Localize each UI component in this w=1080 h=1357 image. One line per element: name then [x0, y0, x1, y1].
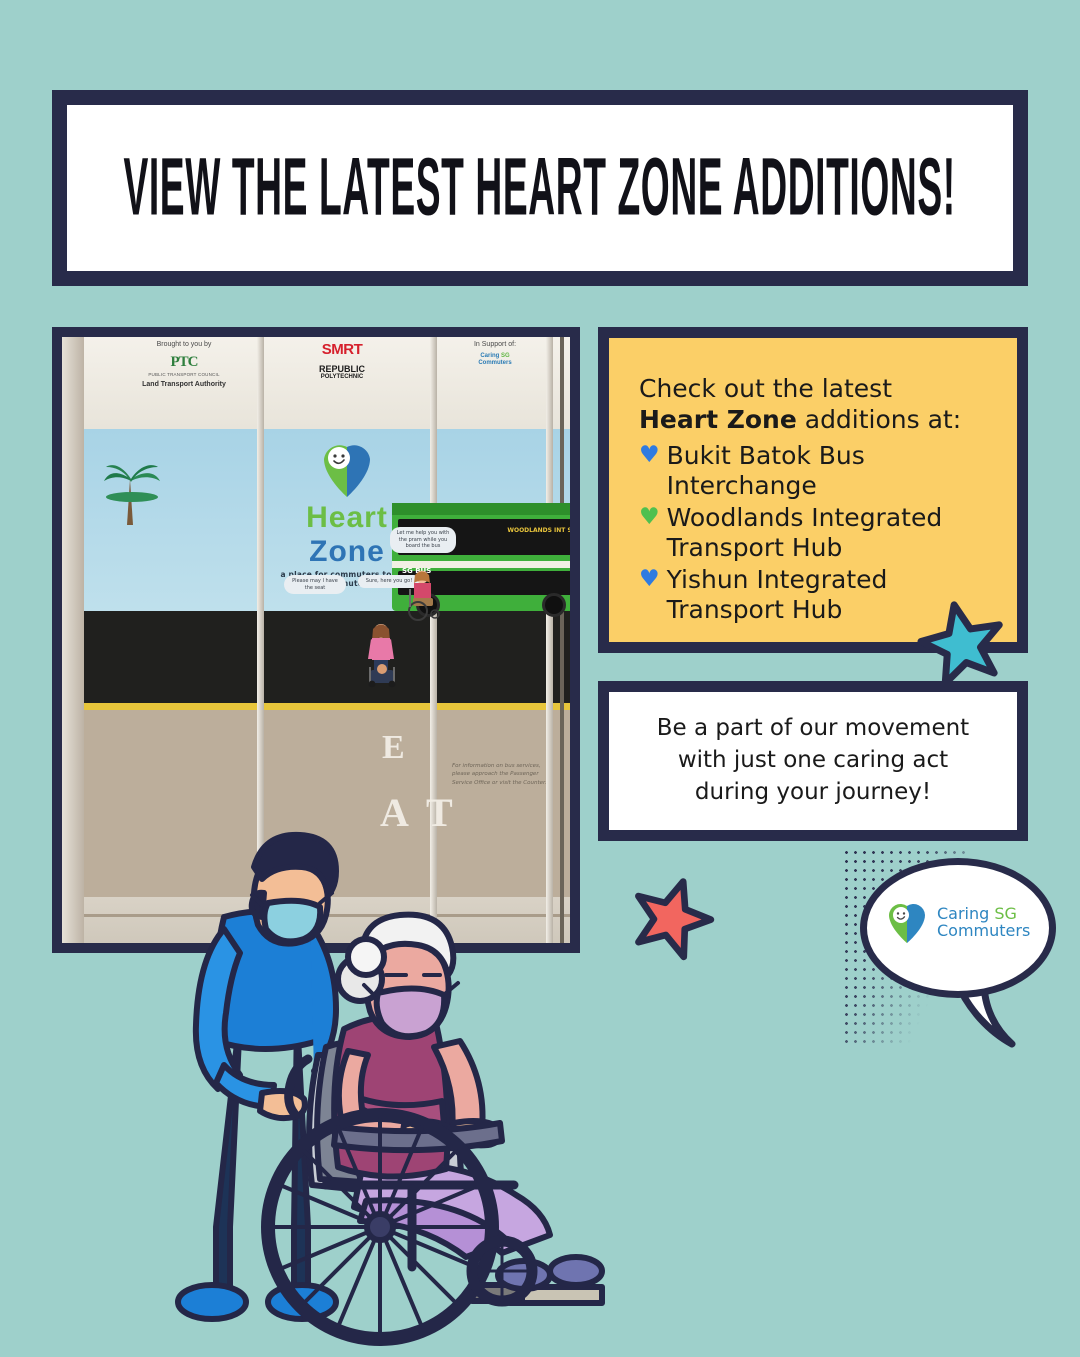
- brought-by-label: Brought to you by: [120, 341, 248, 350]
- mural-logo-line2: Commuters: [478, 360, 511, 366]
- partner-column-support: In Support of: Caring SG Commuters: [440, 341, 550, 367]
- additions-lead-text: Check out the latest Heart Zone addition…: [639, 374, 993, 435]
- mural-wheelchair-user: [404, 569, 442, 621]
- movement-line2: with just one caring act: [678, 747, 948, 773]
- list-item: ♥ Bukit Batok Bus Interchange: [639, 441, 993, 501]
- republic-polytechnic-line2: POLYTECHNIC: [267, 374, 417, 382]
- title-banner: VIEW THE LATEST HEART ZONE ADDITIONS!: [52, 90, 1028, 286]
- heart-zone-location-list: ♥ Bukit Batok Bus Interchange ♥ Woodland…: [639, 441, 993, 625]
- heart-pin-icon: [316, 437, 378, 499]
- bus-roof: [392, 503, 570, 515]
- mural-word-heart: Heart: [306, 501, 388, 534]
- mural-woman-with-stroller: [360, 622, 404, 688]
- caring-sg-commuters-logo: Caring SG Commuters: [842, 848, 1062, 1053]
- blue-heart-icon: ♥: [639, 565, 660, 594]
- republic-polytechnic-line1: REPUBLIC: [267, 365, 417, 374]
- heart-zone-additions-inner: Check out the latest Heart Zone addition…: [609, 338, 1017, 642]
- green-heart-icon: ♥: [639, 503, 660, 532]
- movement-callout-text: Be a part of our movement with just one …: [657, 713, 969, 808]
- star-teal: [920, 600, 1004, 684]
- page-title: VIEW THE LATEST HEART ZONE ADDITIONS!: [124, 147, 956, 229]
- blue-heart-icon: ♥: [639, 441, 660, 470]
- mural-word-zone: Zone: [309, 535, 385, 568]
- bus-destination-sign: WOODLANDS INT 913: [507, 527, 570, 534]
- logo-word-caring: Caring: [937, 904, 989, 923]
- logo-wordmark: Caring SG Commuters: [937, 905, 1030, 940]
- movement-line1: Be a part of our movement: [657, 715, 969, 741]
- movement-callout-card: Be a part of our movement with just one …: [598, 681, 1028, 841]
- ptc-full-name: PUBLIC TRANSPORT COUNCIL: [120, 372, 248, 378]
- smrt-logo-text: SMRT: [267, 341, 417, 360]
- floor-letter: E: [382, 729, 405, 767]
- logo-lockup: Caring SG Commuters: [884, 900, 1030, 944]
- lta-logo-text: Land Transport Authority: [120, 381, 248, 390]
- list-item-label: Bukit Batok Bus Interchange: [667, 441, 993, 501]
- logo-word-commuters: Commuters: [937, 922, 1030, 939]
- wall-information-note: For information on bus services, please …: [452, 762, 548, 787]
- list-item: ♥ Woodlands Integrated Transport Hub: [639, 503, 993, 563]
- bus-wheel: [542, 593, 566, 617]
- caregiver-and-wheelchair-illustration: [112, 797, 632, 1357]
- star-red: [632, 876, 712, 956]
- palm-tree-illustration: [102, 457, 162, 527]
- additions-lead-line1: Check out the latest: [639, 374, 892, 403]
- partner-column-operators: SMRT REPUBLIC POLYTECHNIC: [267, 341, 417, 381]
- speech-bubble: Let me help you with the pram while you …: [390, 527, 456, 553]
- mural-road: [84, 611, 570, 707]
- mural-kerb-line: [84, 703, 570, 710]
- movement-callout-inner: Be a part of our movement with just one …: [609, 692, 1017, 830]
- mural-logo-accent: SG: [501, 353, 510, 359]
- movement-line3: during your journey!: [695, 779, 931, 805]
- additions-lead-after: additions at:: [797, 405, 961, 434]
- additions-lead-bold: Heart Zone: [639, 405, 797, 434]
- mural-caring-sg-logo: Caring SG Commuters: [440, 353, 550, 367]
- list-item-label: Woodlands Integrated Transport Hub: [667, 503, 993, 563]
- support-label: In Support of:: [440, 341, 550, 350]
- poster-canvas: VIEW THE LATEST HEART ZONE ADDITIONS!: [0, 0, 1080, 1080]
- partner-column-brought-by: Brought to you by PTC PUBLIC TRANSPORT C…: [120, 341, 248, 390]
- speech-bubble: Please may I have the seat: [284, 575, 346, 594]
- wall-left-column: [62, 337, 84, 943]
- heart-pin-icon: [884, 900, 930, 944]
- logo-line1: Caring SG: [937, 905, 1030, 922]
- mural-logo-line1: Caring: [480, 353, 499, 359]
- heart-zone-photo-panel: Brought to you by PTC PUBLIC TRANSPORT C…: [52, 327, 580, 953]
- ptc-logo-text: PTC: [120, 353, 248, 372]
- logo-word-sg: SG: [994, 904, 1017, 923]
- title-banner-inner: VIEW THE LATEST HEART ZONE ADDITIONS!: [67, 105, 1013, 271]
